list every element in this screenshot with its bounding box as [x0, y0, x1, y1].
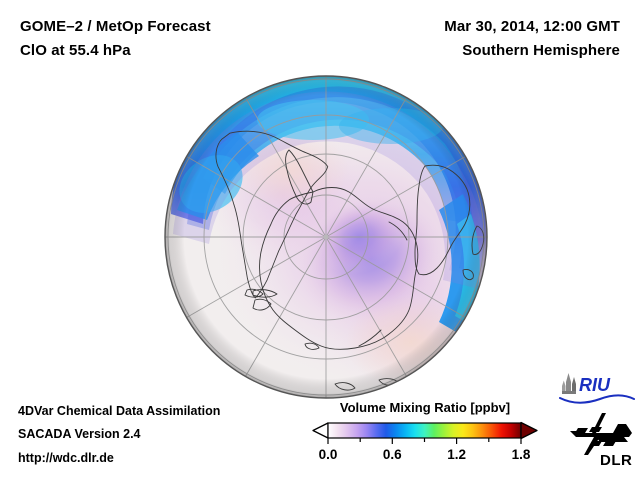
footer-method: 4DVar Chemical Data Assimilation [18, 404, 220, 418]
colorbar-tick-label-3: 1.8 [512, 447, 531, 462]
orthographic-globe-map [163, 74, 489, 400]
riu-logo: RIU [558, 371, 636, 405]
footer-url[interactable]: http://wdc.dlr.de [18, 451, 114, 465]
colorbar: Volume Mixing Ratio [ppbv] [312, 400, 538, 470]
south-pole-marker [324, 235, 328, 239]
colorbar-gradient [312, 421, 538, 447]
dlr-logo: DLR [566, 411, 636, 469]
header-instrument-title: GOME–2 / MetOp Forecast [20, 18, 211, 35]
cathedral-spires-icon [562, 373, 576, 394]
colorbar-tick-label-1: 0.6 [383, 447, 402, 462]
riu-wave-icon [560, 395, 634, 402]
colorbar-tick-label-2: 1.2 [447, 447, 466, 462]
dlr-logo-text: DLR [600, 452, 632, 469]
colorbar-tick-labels: 0.0 0.6 1.2 1.8 [312, 447, 538, 467]
colorbar-ticks [328, 438, 521, 444]
dlr-mark-icon [570, 413, 632, 455]
colorbar-over-arrow [521, 423, 537, 439]
riu-logo-text: RIU [579, 375, 611, 395]
colorbar-title: Volume Mixing Ratio [ppbv] [312, 400, 538, 415]
header-species-level: ClO at 55.4 hPa [20, 42, 131, 59]
figure-canvas: GOME–2 / MetOp Forecast ClO at 55.4 hPa … [0, 0, 640, 480]
colorbar-tick-label-0: 0.0 [319, 447, 338, 462]
colorbar-under-arrow [313, 423, 328, 438]
footer-version: SACADA Version 2.4 [18, 427, 141, 441]
header-region: Southern Hemisphere [462, 42, 620, 59]
header-datetime: Mar 30, 2014, 12:00 GMT [444, 18, 620, 35]
